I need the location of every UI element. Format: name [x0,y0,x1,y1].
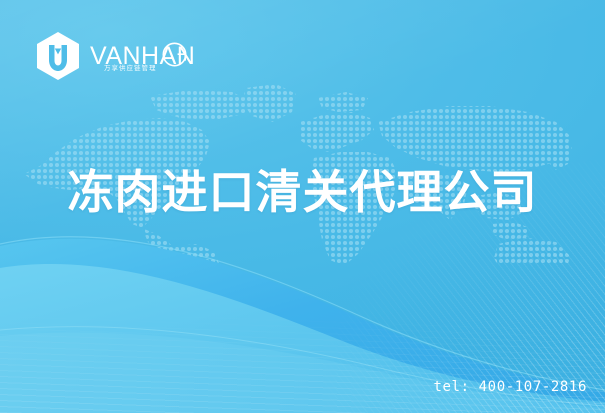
promo-banner: VANHAN 万享供应链管理 冻肉进口清关代理公司 tel: 400-107-2… [0,0,605,413]
brand-logo[interactable]: VANHAN 万享供应链管理 [34,31,195,81]
brand-wordmark: VANHAN 万享供应链管理 [90,44,195,69]
brand-wordmark-g-icon [161,41,188,68]
contact-phone[interactable]: tel: 400-107-2816 [434,379,588,395]
page-title: 冻肉进口清关代理公司 [0,166,605,219]
hexagon-u-logo-icon [34,31,82,81]
brand-subtitle-cn: 万享供应链管理 [104,62,157,72]
